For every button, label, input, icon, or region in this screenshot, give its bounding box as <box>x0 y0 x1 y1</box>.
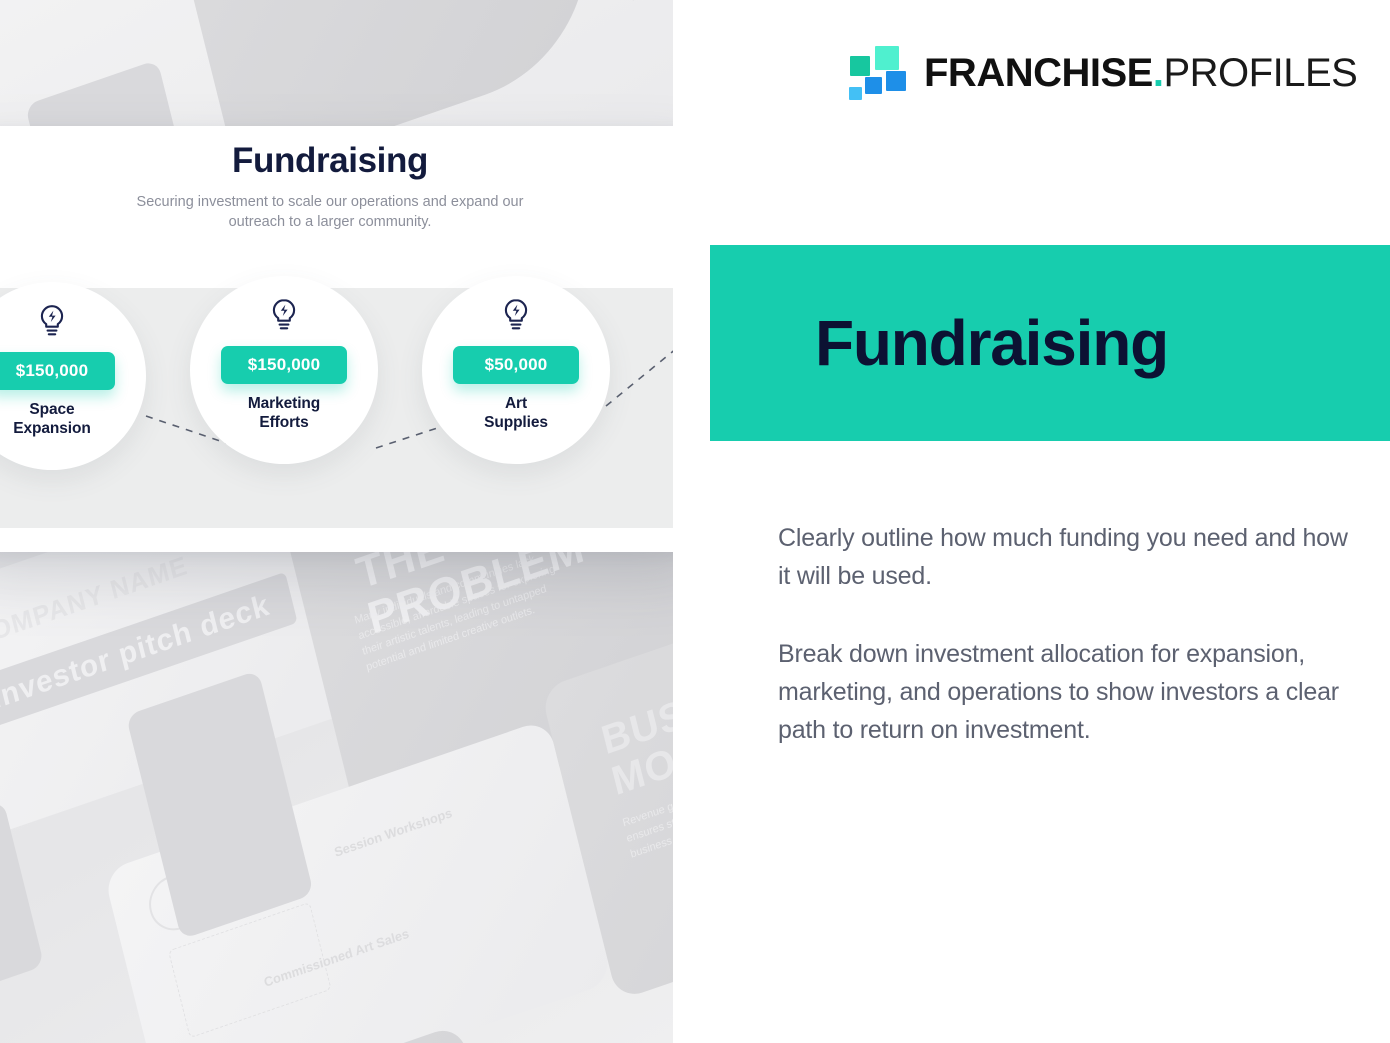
funding-node-label-line2: Efforts <box>259 414 308 431</box>
funding-node-label: Marketing Efforts <box>248 395 320 433</box>
logo-square-4 <box>865 77 882 94</box>
funding-amount-pill: $150,000 <box>0 352 115 390</box>
bg-decor-bar-3 <box>0 800 44 1014</box>
funding-node-label-line1: Marketing <box>248 395 320 412</box>
slide-page: MARKET Spaces in urban and suburban area… <box>0 0 1390 1043</box>
lightbulb-bolt-icon <box>37 304 67 343</box>
section-banner: Fundraising <box>710 245 1390 441</box>
body-paragraph-2: Break down investment allocation for exp… <box>778 635 1358 749</box>
brand-name-dot: . <box>1153 51 1164 95</box>
right-content-panel: FRANCHISE.PROFILES Fundraising Clearly o… <box>673 0 1390 1043</box>
funding-node-label-line1: Space <box>29 401 74 418</box>
slide-preview-card[interactable]: Fundraising Securing investment to scale… <box>0 126 673 552</box>
funding-node-marketing-efforts[interactable]: $150,000 Marketing Efforts <box>190 276 378 464</box>
slide-preview-header: Fundraising Securing investment to scale… <box>0 142 673 232</box>
logo-square-2 <box>875 46 899 70</box>
funding-node-label: Space Expansion <box>13 401 90 439</box>
slide-preview-title: Fundraising <box>0 142 673 181</box>
lightbulb-bolt-icon <box>269 298 299 337</box>
lightbulb-bolt-icon <box>501 298 531 337</box>
logo-square-3 <box>886 71 906 91</box>
brand-name-bold: FRANCHISE <box>924 51 1153 95</box>
funding-node-label-line2: Expansion <box>13 420 90 437</box>
logo-square-5 <box>849 87 862 100</box>
bg-label-resources: Limited Resources <box>610 0 673 10</box>
funding-node-label: Art Supplies <box>484 395 548 433</box>
body-paragraph-1: Clearly outline how much funding you nee… <box>778 519 1358 595</box>
funding-amount-pill: $150,000 <box>221 346 347 384</box>
brand-logo-text: FRANCHISE.PROFILES <box>924 53 1357 93</box>
slide-preview-subtitle: Securing investment to scale our operati… <box>110 192 550 232</box>
franchise-profiles-logo-mark <box>848 44 906 102</box>
brand-name-thin: PROFILES <box>1163 51 1357 95</box>
slide-preview-content: Fundraising Securing investment to scale… <box>0 126 673 552</box>
left-preview-panel: MARKET Spaces in urban and suburban area… <box>0 0 673 1043</box>
brand-logo[interactable]: FRANCHISE.PROFILES <box>848 44 1357 102</box>
section-title: Fundraising <box>815 311 1168 375</box>
funding-amount-pill: $50,000 <box>453 346 579 384</box>
bg-label-group-right: Lack of Accessibility Limited Resources <box>575 0 673 10</box>
bg-slide-business-model-title: BUSINESS MODEL <box>598 641 673 803</box>
funding-node-label-line2: Supplies <box>484 414 548 431</box>
funding-node-label-line1: Art <box>505 395 527 412</box>
funding-node-art-supplies[interactable]: $50,000 Art Supplies <box>422 276 610 464</box>
logo-square-1 <box>850 56 870 76</box>
section-body-copy: Clearly outline how much funding you nee… <box>778 519 1358 749</box>
bg-label-session-workshops: Session Workshops <box>333 805 454 862</box>
